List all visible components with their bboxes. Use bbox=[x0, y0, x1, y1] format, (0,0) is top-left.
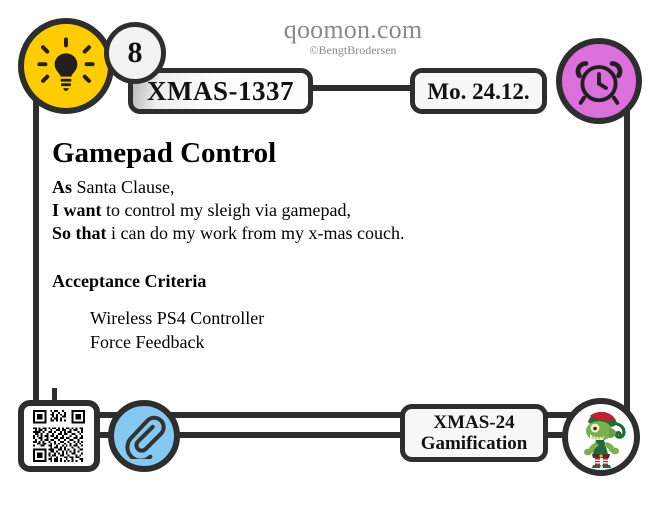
acceptance-criteria-item: Wireless PS4 Controller bbox=[52, 306, 612, 330]
story-sothat-value: i can do my work from my x-mas couch. bbox=[107, 223, 405, 243]
story-role-label: As bbox=[52, 177, 72, 197]
card-border-left bbox=[33, 96, 39, 418]
epic-id: XMAS-24 bbox=[433, 412, 514, 433]
story-points-badge[interactable]: 8 bbox=[104, 22, 166, 84]
story-want-value: to control my sleigh via gamepad, bbox=[102, 200, 351, 220]
brand-watermark: qoomon.com ©BengtBrodersen bbox=[253, 16, 453, 57]
story-id-value: XMAS-1337 bbox=[147, 78, 294, 105]
acceptance-criteria-heading: Acceptance Criteria bbox=[52, 271, 612, 292]
due-date-value: Mo. 24.12. bbox=[427, 80, 529, 103]
epic-name: Gamification bbox=[421, 433, 528, 454]
alarm-clock-glyph bbox=[571, 53, 627, 109]
brand-copyright: ©BengtBrodersen bbox=[253, 43, 453, 57]
epic-badge[interactable]: XMAS-24 Gamification bbox=[400, 404, 548, 462]
story-role-value: Santa Clause, bbox=[72, 177, 174, 197]
lightbulb-glyph bbox=[37, 37, 95, 95]
paperclip-glyph bbox=[121, 413, 167, 459]
paperclip-icon[interactable] bbox=[108, 400, 180, 472]
acceptance-criteria-item: Force Feedback bbox=[52, 330, 612, 354]
connector-header bbox=[300, 85, 420, 91]
story-want-line: I want to control my sleigh via gamepad, bbox=[52, 199, 612, 222]
card-border-right bbox=[624, 96, 630, 418]
qr-code-icon[interactable] bbox=[18, 400, 100, 472]
brand-name: qoomon.com bbox=[253, 16, 453, 44]
alarm-clock-icon[interactable] bbox=[556, 38, 642, 124]
story-role-line: As Santa Clause, bbox=[52, 176, 612, 199]
elf-avatar-icon[interactable] bbox=[562, 398, 640, 476]
story-sothat-line: So that i can do my work from my x-mas c… bbox=[52, 222, 612, 245]
qr-code-glyph bbox=[28, 408, 90, 464]
lightbulb-icon[interactable] bbox=[18, 18, 114, 114]
story-sothat-label: So that bbox=[52, 223, 107, 243]
story-card: qoomon.com ©BengtBrodersen bbox=[0, 0, 663, 506]
story-want-label: I want bbox=[52, 200, 102, 220]
card-body: Gamepad Control As Santa Clause, I want … bbox=[52, 136, 612, 354]
story-points-value: 8 bbox=[128, 38, 143, 68]
elf-avatar-glyph bbox=[568, 404, 634, 470]
due-date-badge[interactable]: Mo. 24.12. bbox=[410, 68, 547, 114]
connector-footer bbox=[170, 432, 415, 438]
story-title: Gamepad Control bbox=[52, 136, 612, 170]
